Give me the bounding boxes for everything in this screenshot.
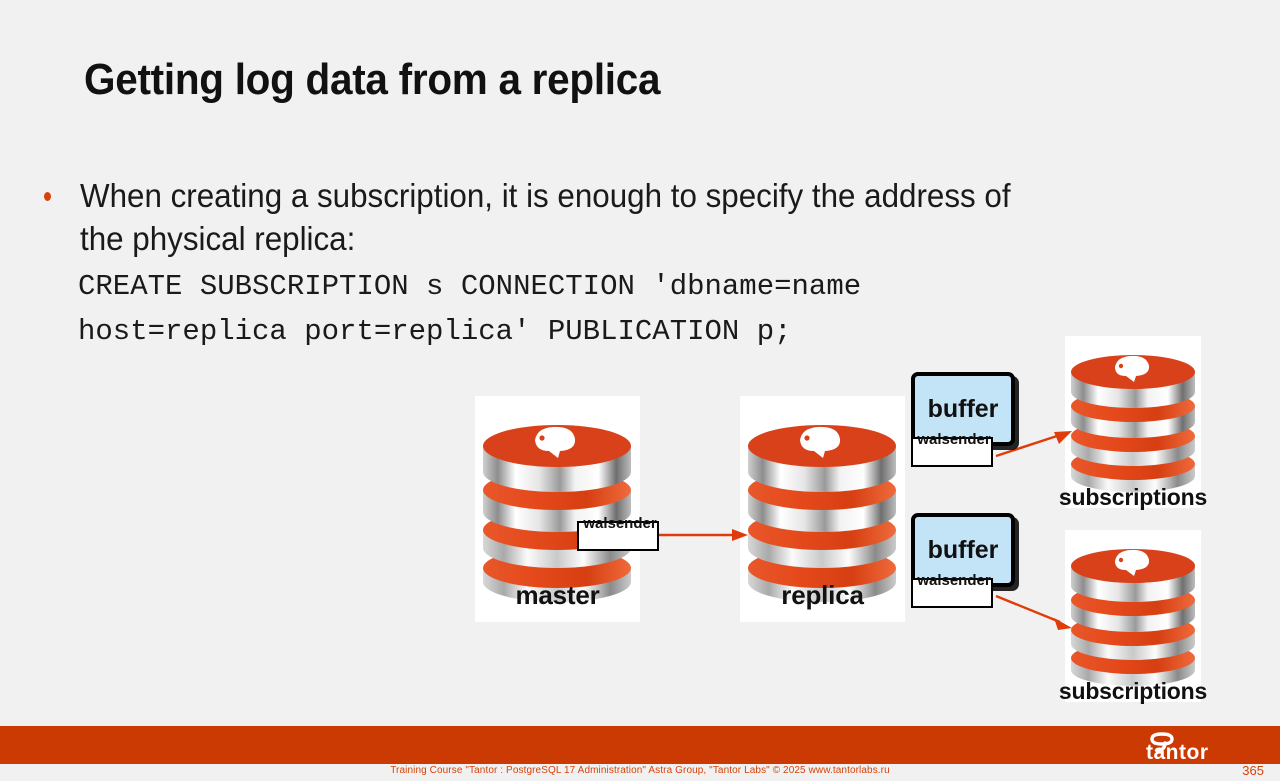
- database-replica: replica: [740, 396, 905, 622]
- bullet-marker-icon: [44, 192, 51, 201]
- buffer-label-top: buffer: [928, 395, 999, 424]
- database-cylinder-icon: [1065, 336, 1201, 508]
- svg-text:tantor: tantor: [1146, 741, 1209, 762]
- walsender-box-replica-top: walsender: [911, 437, 993, 467]
- arrow-replica-to-subscriptions-bottom: [996, 592, 1080, 634]
- walsender-label-replica-bottom: walsender: [911, 573, 997, 589]
- arrow-master-to-replica: [656, 520, 752, 550]
- walsender-box-replica-bottom: walsender: [911, 578, 993, 608]
- database-label-replica: replica: [740, 580, 905, 611]
- database-label-master: master: [475, 580, 640, 611]
- database-subscriptions-top: subscriptions: [1065, 336, 1201, 508]
- walsender-box-master: walsender: [577, 521, 659, 551]
- footer-accent-bar: [0, 726, 1280, 764]
- database-master: master: [475, 396, 640, 622]
- footer-copyright: Training Course "Tantor : PostgreSQL 17 …: [0, 765, 1280, 776]
- walsender-label-master: walsender: [577, 516, 663, 532]
- buffer-label-bottom: buffer: [928, 536, 999, 565]
- walsender-label-replica-top: walsender: [911, 432, 997, 448]
- database-label-subscriptions-bottom: subscriptions: [1049, 678, 1217, 705]
- bullet-text: When creating a subscription, it is enou…: [80, 174, 1040, 260]
- tantor-logo: tantor: [1140, 730, 1256, 762]
- slide-canvas: Getting log data from a replica When cre…: [0, 0, 1280, 781]
- database-cylinder-icon: [1065, 530, 1201, 702]
- page-title: Getting log data from a replica: [84, 55, 660, 105]
- sql-code-block: CREATE SUBSCRIPTION s CONNECTION 'dbname…: [78, 264, 1118, 354]
- page-number: 365: [1242, 763, 1264, 778]
- database-subscriptions-bottom: subscriptions: [1065, 530, 1201, 702]
- database-label-subscriptions-top: subscriptions: [1049, 484, 1217, 511]
